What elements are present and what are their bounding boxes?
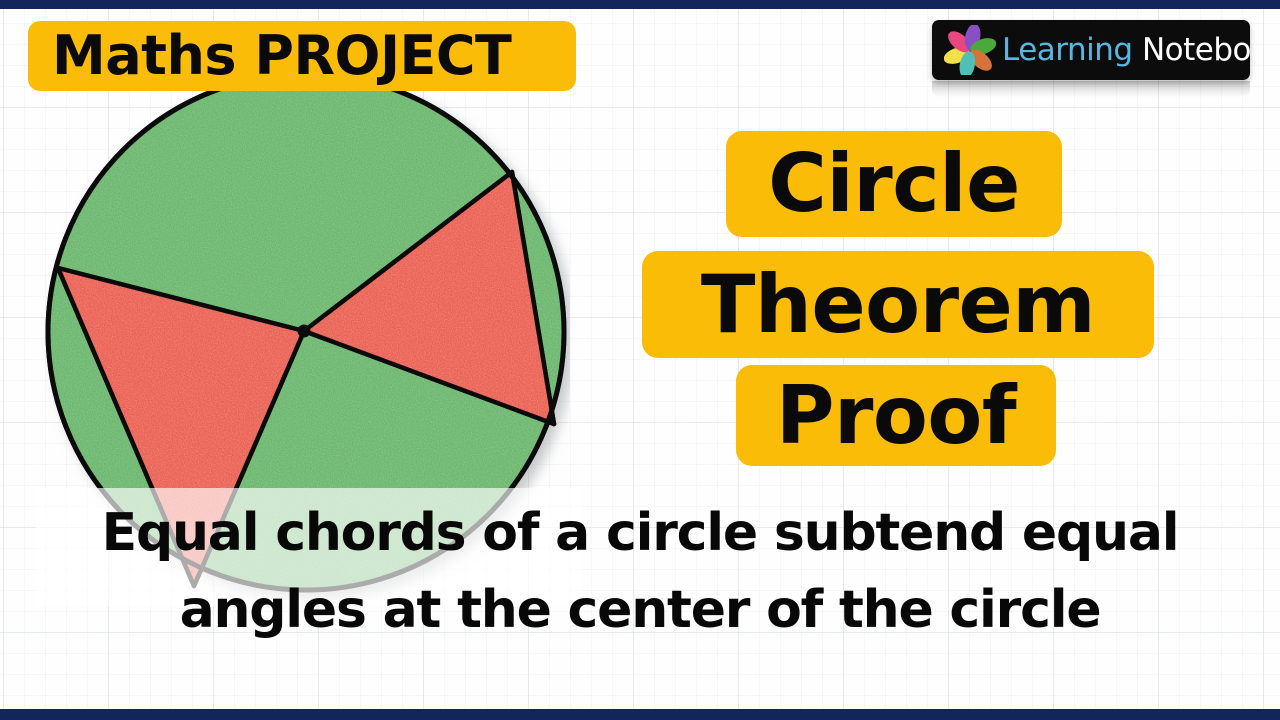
logo-wordmark: Learning Notebook — [1002, 32, 1250, 68]
title-line-theorem: Theorem — [642, 251, 1154, 358]
flower-pinwheel-icon — [944, 25, 996, 75]
video-thumbnail-canvas: Maths PROJECT — [0, 0, 1280, 720]
logo-word-notebook: Notebook — [1133, 32, 1250, 68]
title-line-circle: Circle — [726, 131, 1062, 237]
learning-notebook-logo[interactable]: Learning Notebook — [932, 20, 1250, 80]
bottom-navy-bar — [0, 709, 1280, 720]
theorem-statement-caption: Equal chords of a circle subtend equal a… — [0, 495, 1280, 649]
title-line-proof: Proof — [736, 365, 1056, 466]
caption-line-1: Equal chords of a circle subtend equal — [0, 495, 1280, 572]
maths-project-badge: Maths PROJECT — [28, 21, 576, 91]
top-navy-bar — [0, 0, 1280, 9]
center-dot — [298, 325, 311, 338]
caption-line-2: angles at the center of the circle — [0, 572, 1280, 649]
logo-word-learning: Learning — [1002, 32, 1133, 68]
